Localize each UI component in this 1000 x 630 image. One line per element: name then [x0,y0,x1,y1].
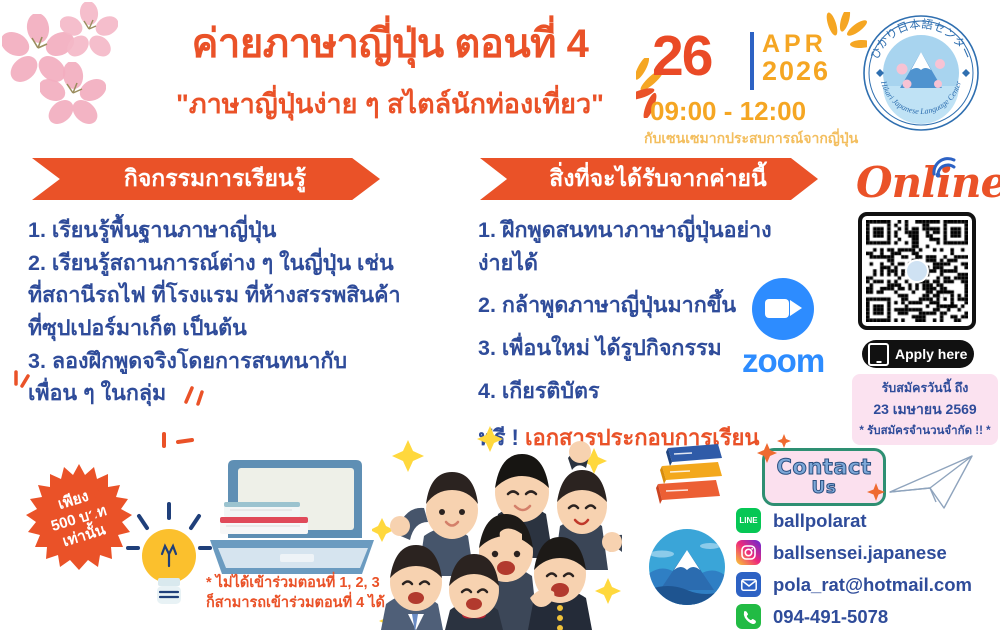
zoom-logo: zoom [742,278,824,380]
list-item: 4. เกียรติบัตร [478,375,778,408]
list-item: 1. เรียนรู้พื้นฐานภาษาญี่ปุ่น [28,214,478,247]
contact-row-phone[interactable]: 094-491-5078 [736,604,972,629]
deadline-line-1: รับสมัครวันนี้ ถึง [854,378,996,398]
phone-icon [868,343,889,366]
contact-value: ballpolarat [773,510,867,532]
sparkle-icon [777,434,791,453]
contact-badge-line-1: Contact [777,457,872,478]
date-note: กับเซนเซมากประสบการณ์จากญี่ปุ่น [644,128,858,150]
list-item: 2. กล้าพูดภาษาญี่ปุ่นมากขึ้น [478,289,778,322]
email-icon [736,572,761,597]
laptop-illustration [196,456,378,591]
banner-benefits: สิ่งที่จะได้รับจากค่ายนี้ [480,158,818,200]
footnote-line-2: ก็สามารถเข้าร่วมตอนที่ 4 ได้ [206,594,385,614]
line-icon: LINE [736,508,761,533]
phone-icon [736,604,761,629]
deadline-line-2: 23 เมษายน 2569 [854,399,996,421]
date-month: APR [762,32,827,57]
sakura-flower-icon [60,2,118,58]
contact-row-instagram[interactable]: ballsensei.japanese [736,540,972,565]
qr-code[interactable] [858,212,976,330]
online-label: Online [856,158,1000,207]
spark-accent-icon [178,376,208,421]
students-illustration [372,418,622,630]
price-badge: เพียง 500 บาท เท่านั้น [22,462,136,576]
banner-activities: กิจกรรมการเรียนรู้ [32,158,380,200]
date-year: 2026 [762,58,830,85]
contact-value: pola_rat@hotmail.com [773,574,972,596]
contact-badge-line-2: Us [812,480,837,497]
date-divider [750,32,754,90]
instagram-icon [736,540,761,565]
date-block: 26 APR 2026 09:00 - 12:00 กับเซนเซมากประ… [640,10,865,145]
apply-here-button[interactable]: Apply here [862,340,974,368]
spark-accent-icon [88,488,114,529]
page-subtitle: "ภาษาญี่ปุ่นง่าย ๆ สไตล์นักท่องเที่ยว" [120,82,660,125]
page-title: ค่ายภาษาญี่ปุ่น ตอนที่ 4 [120,22,660,66]
footnote: * ไม่ได้เข้าร่วมตอนที่ 1, 2, 3 ก็สามารถเ… [206,574,385,613]
date-time: 09:00 - 12:00 [650,98,806,124]
contact-list: LINE ballpolarat ballsensei.japanese pol… [736,508,972,630]
deadline-box: รับสมัครวันนี้ ถึง 23 เมษายน 2569 * รับส… [852,374,998,445]
wifi-icon [930,152,962,183]
sparkle-icon [756,442,778,469]
sakura-flower-icon [40,62,106,126]
list-item: ที่ซุปเปอร์มาเก็ต เป็นต้น [28,312,478,345]
contact-row-email[interactable]: pola_rat@hotmail.com [736,572,972,597]
contact-row-line[interactable]: LINE ballpolarat [736,508,972,533]
list-item: เพื่อน ๆ ในกลุ่ม [28,377,478,410]
poster-canvas: ค่ายภาษาญี่ปุ่น ตอนที่ 4 "ภาษาญี่ปุ่นง่า… [0,0,1000,630]
list-item: 1. ฝึกพูดสนทนาภาษาญี่ปุ่นอย่างง่ายได้ [478,214,778,279]
contact-value: ballsensei.japanese [773,542,947,564]
apply-here-label: Apply here [895,346,967,362]
date-day: 26 [652,28,711,85]
books-illustration [652,440,730,519]
list-item: 3. เพื่อนใหม่ ได้รูปกิจกรรม [478,332,778,365]
activities-list: 1. เรียนรู้พื้นฐานภาษาญี่ปุ่น 2. เรียนรู… [28,214,478,410]
spark-accent-icon [10,366,36,409]
list-item: 2. เรียนรู้สถานการณ์ต่าง ๆ ในญี่ปุ่น เช่… [28,247,478,280]
footnote-line-1: * ไม่ได้เข้าร่วมตอนที่ 1, 2, 3 [206,574,385,594]
school-logo: ひかり日本語センター Hikari Japanese Language Cent… [862,14,980,132]
deadline-line-3: * รับสมัครจำนวนจำกัด !! * [854,422,996,440]
contact-value: 094-491-5078 [773,606,888,628]
sparkle-icon [866,482,886,507]
qr-center-logo [905,259,929,283]
zoom-wordmark: zoom [742,342,824,380]
zoom-camera-icon [752,278,814,340]
list-item: 3. ลองฝึกพูดจริงโดยการสนทนากับ [28,345,478,378]
list-item: ที่สถานีรถไฟ ที่โรงแรม ที่ห้างสรรพสินค้า [28,279,478,312]
spark-accent-icon [160,430,200,465]
fuji-circle-illustration [648,528,726,611]
